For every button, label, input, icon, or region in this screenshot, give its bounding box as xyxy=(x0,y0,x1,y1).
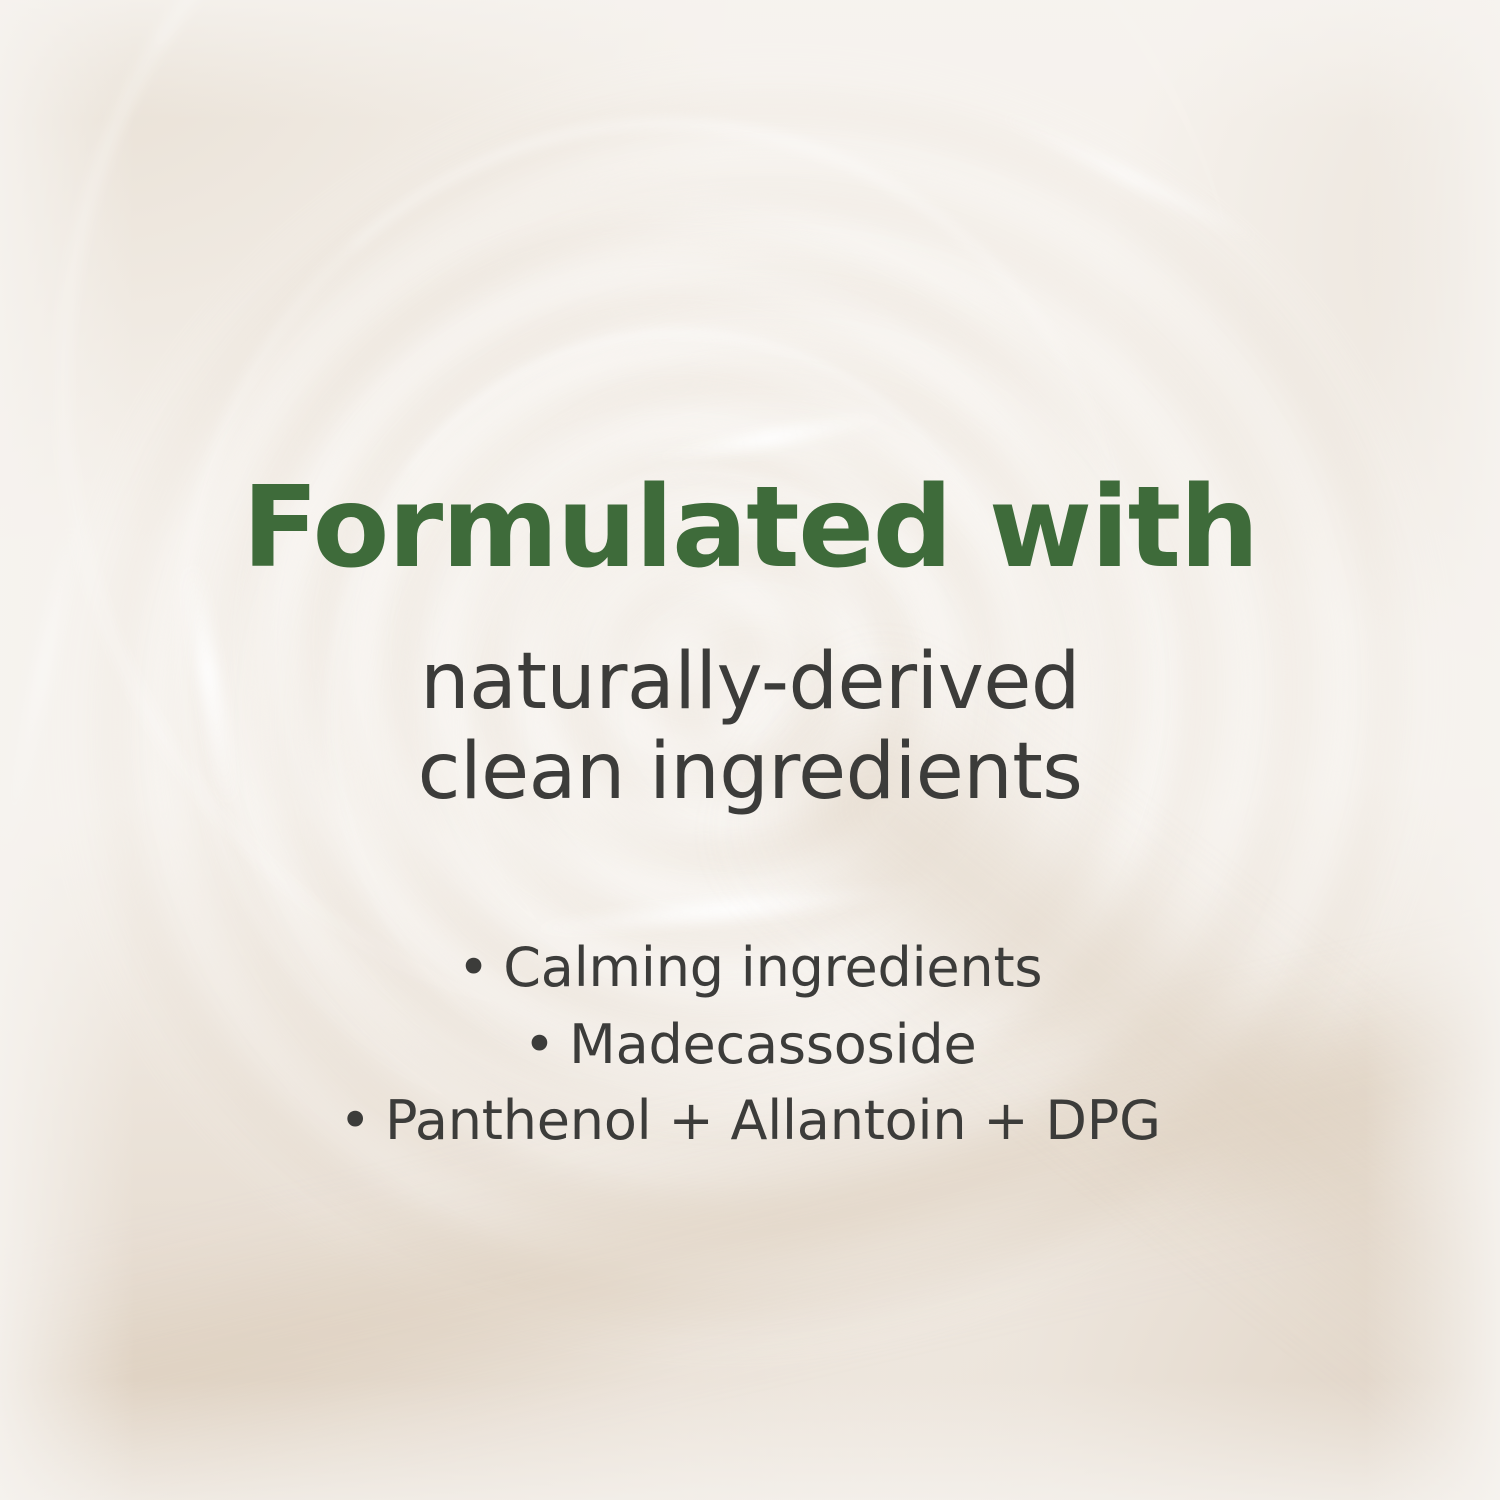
content-stack: Formulated with naturally-derived clean … xyxy=(0,0,1500,1500)
subheading: naturally-derived clean ingredients xyxy=(0,638,1500,817)
headline: Formulated with xyxy=(0,472,1500,584)
product-feature-banner: Formulated with naturally-derived clean … xyxy=(0,0,1500,1500)
subheading-line-2: clean ingredients xyxy=(0,728,1500,818)
bullet-dot-icon: • xyxy=(339,1089,371,1152)
ingredient-bullet-list: •Calming ingredients •Madecassoside •Pan… xyxy=(0,930,1500,1160)
list-item: •Calming ingredients xyxy=(0,930,1500,1007)
bullet-dot-icon: • xyxy=(524,1013,556,1076)
subheading-line-1: naturally-derived xyxy=(0,638,1500,728)
list-item: •Panthenol + Allantoin + DPG xyxy=(0,1083,1500,1160)
bullet-dot-icon: • xyxy=(458,936,490,999)
list-item-label: Calming ingredients xyxy=(503,936,1042,999)
list-item-label: Panthenol + Allantoin + DPG xyxy=(385,1089,1161,1152)
list-item: •Madecassoside xyxy=(0,1007,1500,1084)
list-item-label: Madecassoside xyxy=(569,1013,976,1076)
